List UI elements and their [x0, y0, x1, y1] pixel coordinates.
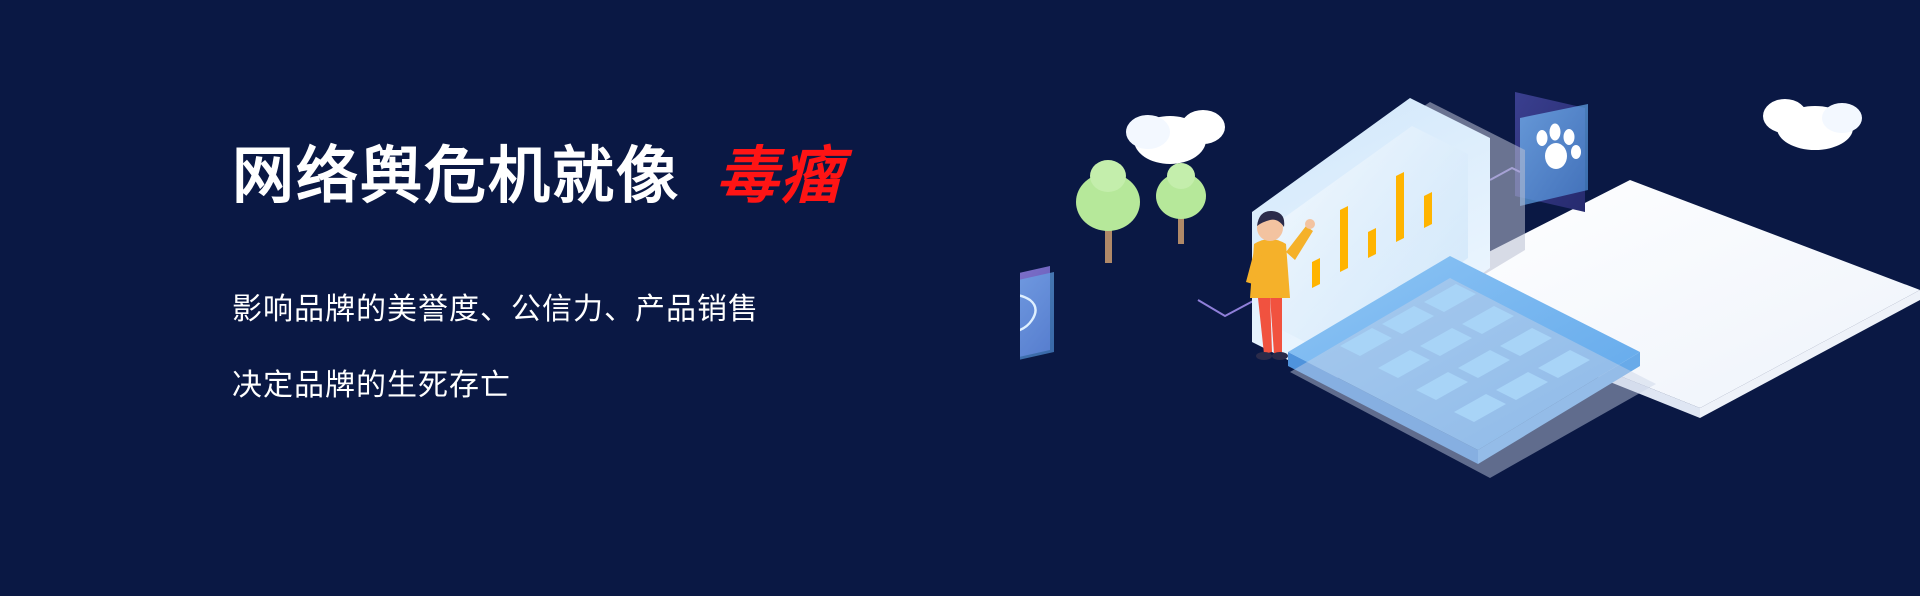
alert-panel — [1020, 266, 1054, 370]
tree-icon — [1076, 160, 1140, 263]
hero-banner: 网络舆危机就像 毒瘤 影响品牌的美誉度、公信力、产品销售 决定品牌的生死存亡 — [0, 0, 1920, 596]
tree-icon — [1156, 163, 1206, 244]
cloud-icon — [1126, 110, 1225, 164]
cloud-icon — [1763, 99, 1862, 150]
paw-panel — [1515, 92, 1588, 212]
hero-copy: 网络舆危机就像 毒瘤 影响品牌的美誉度、公信力、产品销售 决定品牌的生死存亡 — [232, 146, 992, 404]
hero-illustration — [1020, 0, 1920, 596]
subtitle-line-2: 决定品牌的生死存亡 — [232, 360, 992, 404]
headline-accent-text: 毒瘤 — [716, 146, 844, 208]
headline-main-text: 网络舆危机就像 — [232, 146, 680, 208]
subtitle-line-1: 影响品牌的美誉度、公信力、产品销售 — [232, 284, 992, 328]
page-title: 网络舆危机就像 毒瘤 — [232, 146, 992, 208]
